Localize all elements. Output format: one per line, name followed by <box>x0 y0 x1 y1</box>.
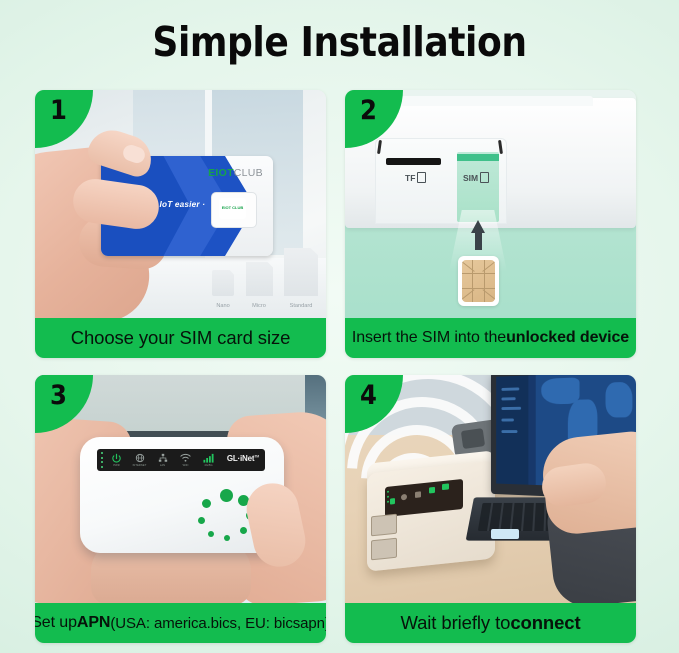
step-number-4: 4 <box>360 380 377 411</box>
signal-label: 4G/5G <box>204 464 212 467</box>
sim-slot-highlight <box>457 154 499 161</box>
power-icon: PWR <box>108 452 125 468</box>
caption-2-bold: unlocked device <box>506 329 629 347</box>
sim-size-comparison: Nano Micro Standard <box>208 248 320 310</box>
step-caption-1: Choose your SIM card size <box>35 318 326 358</box>
sim-label-text: SIM <box>463 173 478 183</box>
caption-3-suffix: (USA: america.bics, EU: bicsapn) <box>110 615 326 632</box>
standard-label: Standard <box>280 303 322 309</box>
lan-label: LAN <box>160 464 165 467</box>
continent-africa <box>606 382 633 418</box>
wifi-label: WIFI <box>183 464 189 467</box>
arrow-stem <box>475 230 482 250</box>
router-brand: GL·iNetTM <box>227 454 259 463</box>
step-card-3[interactable]: PWR INTERNET LAN WIFI <box>35 375 326 643</box>
caption-3-bold: APN <box>77 614 110 632</box>
sim-chip-thumbnail: EIOT CLUB <box>219 198 246 219</box>
step-caption-3: Set up APN (USA: america.bics, EU: bicsa… <box>35 603 326 643</box>
step-number-3: 3 <box>50 380 67 411</box>
ethernet-ports <box>369 513 399 564</box>
step-card-1[interactable]: EIOTCLUB · Make the IoT easier · EIOT CL… <box>35 90 326 358</box>
nano-sim-shape <box>212 270 234 296</box>
wifi-icon: WIFI <box>177 452 194 468</box>
tf-slot-label: TF <box>405 172 426 183</box>
laptop <box>470 375 636 549</box>
lan-icon: LAN <box>154 452 171 468</box>
insert-arrow-up-icon <box>471 220 485 250</box>
memory-card-icon <box>417 172 426 183</box>
micro-sim-shape <box>246 262 273 296</box>
standard-sim-shape <box>284 248 318 296</box>
battery-dots <box>101 452 104 468</box>
continent-north <box>541 377 579 404</box>
sim-slot-label: SIM <box>463 172 489 183</box>
signal-bars-icon: 4G/5G <box>200 452 217 468</box>
step-caption-2: Insert the SIM into the unlocked device <box>345 318 636 358</box>
step-card-2[interactable]: TF SIM 2 Insert the SIM into the unlo <box>345 90 636 358</box>
desk-label-tag <box>491 529 519 539</box>
led-indicator-bar: PWR INTERNET LAN WIFI <box>97 449 265 471</box>
chip-brand-text: EIOT CLUB <box>222 206 244 210</box>
router-brand-text: GL·iNet <box>227 454 255 463</box>
trademark-mark: TM <box>254 454 259 458</box>
sim-card-icon <box>480 172 489 183</box>
micro-label: Micro <box>241 303 277 309</box>
tf-label-text: TF <box>405 173 415 183</box>
brand-eiot: EIOT <box>208 167 234 179</box>
tf-card-slot <box>386 158 441 165</box>
page-title: Simple Installation <box>41 18 639 66</box>
caption-2-prefix: Insert the SIM into the <box>352 329 506 347</box>
steps-grid: EIOTCLUB · Make the IoT easier · EIOT CL… <box>35 90 645 643</box>
step-number-1: 1 <box>50 95 67 126</box>
internet-label: INTERNET <box>133 464 147 467</box>
nano-label: Nano <box>208 303 238 309</box>
power-label: PWR <box>113 464 119 467</box>
step-caption-4: Wait briefly to connect <box>345 603 636 643</box>
infographic-page: Simple Installation EIOTCLUB · Make <box>0 0 679 653</box>
globe-icon: INTERNET <box>131 452 148 468</box>
sim-chip-contacts <box>462 260 495 302</box>
caption-1-text: Choose your SIM card size <box>71 327 291 349</box>
step-number-2: 2 <box>360 95 377 126</box>
step-card-4[interactable]: 4 Wait briefly to connect <box>345 375 636 643</box>
card-brand: EIOTCLUB <box>208 167 263 179</box>
caption-3-prefix: Set up <box>35 614 77 632</box>
caption-4-bold: connect <box>510 612 580 634</box>
app-sidebar <box>496 375 528 484</box>
caption-4-prefix: Wait briefly to <box>400 612 510 634</box>
device-lip <box>393 96 593 106</box>
brand-club: CLUB <box>234 167 263 179</box>
